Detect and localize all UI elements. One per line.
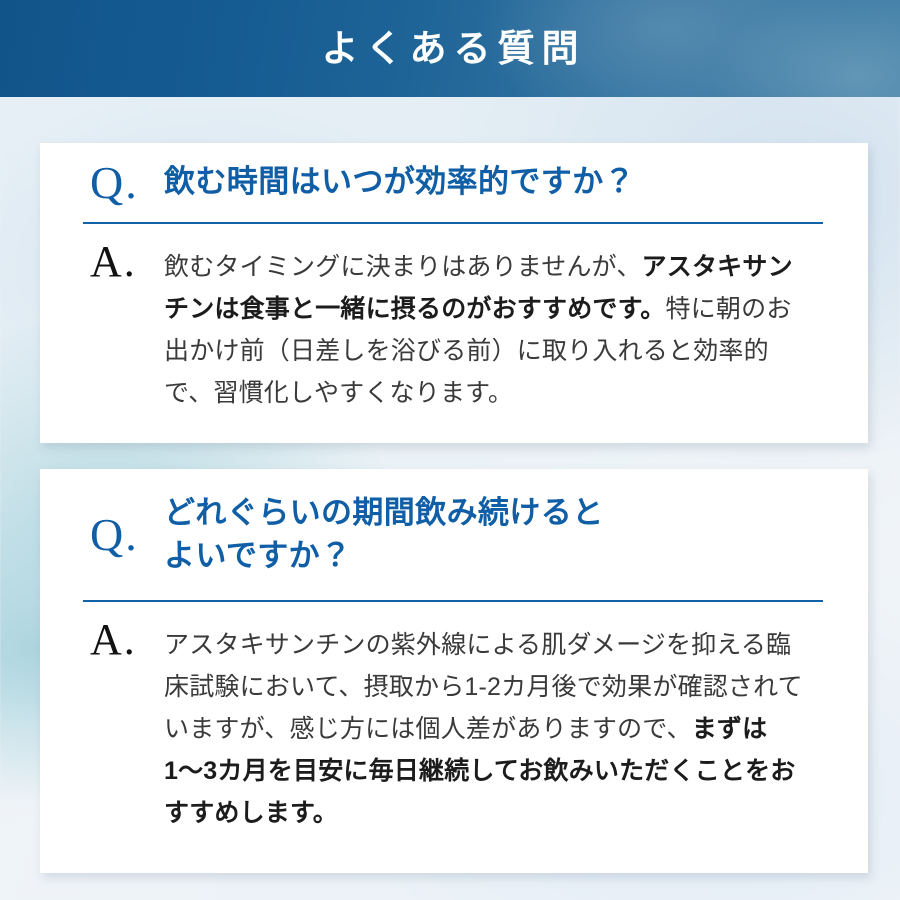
question-row: Q. どれぐらいの期間飲み続けると よいですか？ — [40, 469, 868, 600]
question-text: 飲む時間はいつが効率的ですか？ — [164, 161, 635, 204]
question-line: どれぐらいの期間飲み続けると — [164, 492, 604, 535]
question-marker: Q. — [90, 160, 164, 206]
answer-marker: A. — [90, 240, 164, 414]
page-title: よくある質問 — [315, 30, 586, 67]
answer-text: アスタキサンチンの紫外線による肌ダメージを抑える臨床試験において、摂取から1-2… — [164, 624, 804, 834]
faq-card-1: Q. 飲む時間はいつが効率的ですか？ A. 飲むタイミングに決まりはありませんが… — [40, 143, 868, 443]
question-text: どれぐらいの期間飲み続けると よいですか？ — [164, 492, 604, 578]
answer-text: 飲むタイミングに決まりはありませんが、アスタキサンチンは食事と一緒に摂るのがおす… — [164, 246, 804, 414]
answer-plain: 飲むタイミングに決まりはありませんが、 — [164, 253, 642, 281]
answer-marker: A. — [90, 618, 164, 834]
question-line: よいですか？ — [164, 535, 604, 578]
question-marker: Q. — [90, 512, 164, 558]
answer-row: A. アスタキサンチンの紫外線による肌ダメージを抑える臨床試験において、摂取から… — [40, 602, 868, 834]
faq-card-2: Q. どれぐらいの期間飲み続けると よいですか？ A. アスタキサンチンの紫外線… — [40, 469, 868, 873]
question-row: Q. 飲む時間はいつが効率的ですか？ — [40, 143, 868, 222]
question-line: 飲む時間はいつが効率的ですか？ — [164, 161, 635, 204]
page-header: よくある質問 — [0, 0, 900, 97]
answer-row: A. 飲むタイミングに決まりはありませんが、アスタキサンチンは食事と一緒に摂るの… — [40, 224, 868, 414]
